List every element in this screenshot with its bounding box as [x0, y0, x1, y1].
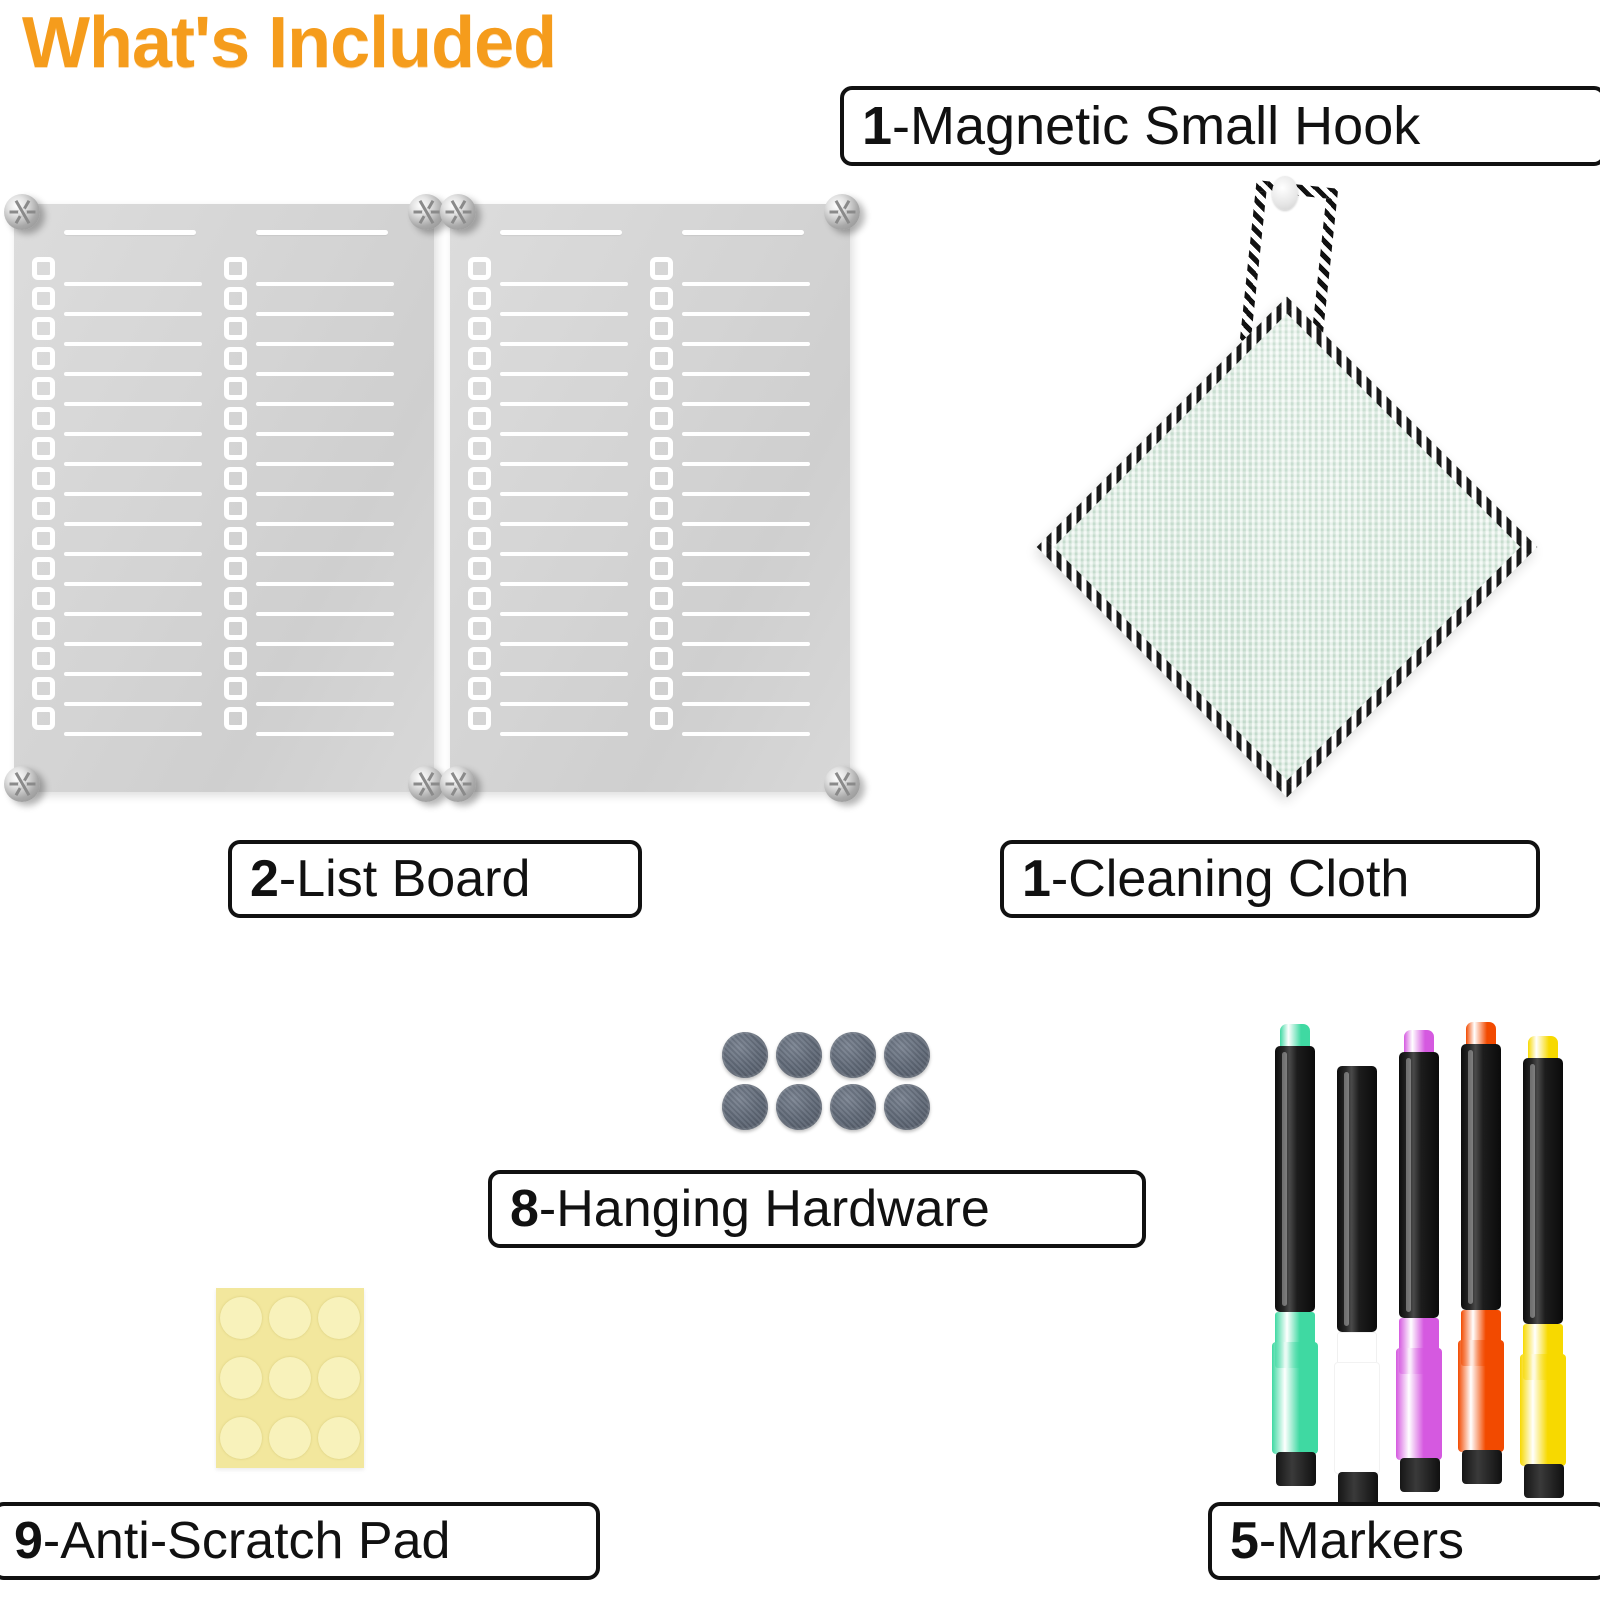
- checkbox-icon: [32, 617, 55, 640]
- board-header-line: [682, 230, 804, 235]
- board-screw-icon: [408, 766, 444, 802]
- marker-eraser: [1462, 1450, 1502, 1484]
- marker-eraser: [1524, 1464, 1564, 1498]
- checkbox-icon: [650, 587, 673, 610]
- hanging-hardware-group: [722, 1032, 928, 1132]
- checkbox-icon: [32, 587, 55, 610]
- board-list-row: [468, 316, 628, 346]
- board-list-row: [32, 286, 202, 316]
- board-list-row: [650, 466, 810, 496]
- board-column: [224, 256, 394, 736]
- checkbox-icon: [650, 557, 673, 580]
- board-write-line: [64, 732, 202, 736]
- checkbox-icon: [650, 437, 673, 460]
- magnet-disc: [830, 1084, 876, 1130]
- board-screw-icon: [4, 766, 40, 802]
- anti-scratch-pad-dot: [269, 1417, 311, 1459]
- board-list-row: [650, 286, 810, 316]
- board-column: [650, 256, 810, 736]
- caption-separator: -: [539, 1179, 556, 1239]
- board-list-row: [224, 706, 394, 736]
- checkbox-icon: [224, 557, 247, 580]
- board-list-row: [468, 616, 628, 646]
- caption-separator: -: [43, 1511, 60, 1571]
- board-list-row: [468, 586, 628, 616]
- checkbox-icon: [224, 347, 247, 370]
- caption-label: List Board: [296, 849, 530, 909]
- checkbox-icon: [468, 647, 491, 670]
- checkbox-icon: [224, 317, 247, 340]
- board-header-line: [500, 230, 622, 235]
- board-list-row: [32, 586, 202, 616]
- caption-anti-scratch-pad: 9 - Anti-Scratch Pad: [0, 1502, 600, 1580]
- magnet-disc: [884, 1032, 930, 1078]
- caption-list-board: 2 - List Board: [228, 840, 642, 918]
- board-list-row: [224, 256, 394, 286]
- marker-barrel: [1337, 1066, 1377, 1332]
- checkbox-icon: [650, 677, 673, 700]
- list-board-surface: [14, 204, 434, 792]
- checkbox-icon: [468, 677, 491, 700]
- checkbox-icon: [32, 467, 55, 490]
- marker-gloss: [1282, 1052, 1287, 1306]
- checkbox-icon: [468, 527, 491, 550]
- checkbox-icon: [650, 527, 673, 550]
- caption-count: 9: [14, 1511, 43, 1571]
- checkbox-icon: [650, 467, 673, 490]
- board-list-row: [224, 406, 394, 436]
- caption-count: 8: [510, 1179, 539, 1239]
- board-screw-icon: [440, 194, 476, 230]
- checkbox-icon: [32, 647, 55, 670]
- board-list-row: [650, 316, 810, 346]
- board-list-row: [224, 496, 394, 526]
- list-board-surface: [450, 204, 850, 792]
- board-list-row: [468, 286, 628, 316]
- anti-scratch-pad-dot: [318, 1417, 360, 1459]
- checkbox-icon: [468, 257, 491, 280]
- caption-label: Markers: [1276, 1511, 1464, 1571]
- checkbox-icon: [224, 437, 247, 460]
- marker-barrel: [1523, 1058, 1563, 1324]
- board-list-row: [32, 436, 202, 466]
- board-list-row: [32, 646, 202, 676]
- checkbox-icon: [650, 377, 673, 400]
- list-board-2: [450, 204, 850, 792]
- magnet-disc: [830, 1032, 876, 1078]
- checkbox-icon: [468, 317, 491, 340]
- board-list-row: [32, 256, 202, 286]
- caption-separator: -: [892, 95, 910, 157]
- marker-barrel: [1275, 1046, 1315, 1312]
- marker-grip-body: [1458, 1340, 1504, 1452]
- board-screw-icon: [824, 194, 860, 230]
- checkbox-icon: [32, 677, 55, 700]
- board-list-row: [32, 556, 202, 586]
- checkbox-icon: [224, 677, 247, 700]
- board-list-row: [32, 316, 202, 346]
- board-list-row: [468, 496, 628, 526]
- marker-gloss: [1406, 1058, 1411, 1312]
- checkbox-icon: [224, 527, 247, 550]
- caption-separator: -: [279, 849, 296, 909]
- checkbox-icon: [32, 377, 55, 400]
- board-list-row: [468, 466, 628, 496]
- checkbox-icon: [468, 377, 491, 400]
- board-column: [468, 256, 628, 736]
- checkbox-icon: [224, 287, 247, 310]
- checkbox-icon: [468, 557, 491, 580]
- board-list-row: [468, 706, 628, 736]
- anti-scratch-pad-dot: [318, 1357, 360, 1399]
- board-list-row: [650, 556, 810, 586]
- anti-scratch-pad-dots: [216, 1288, 364, 1468]
- board-list-row: [468, 256, 628, 286]
- anti-scratch-pad-dot: [269, 1357, 311, 1399]
- board-screw-icon: [408, 194, 444, 230]
- board-list-row: [32, 616, 202, 646]
- board-list-row: [224, 466, 394, 496]
- checkbox-icon: [224, 377, 247, 400]
- checkbox-icon: [32, 317, 55, 340]
- marker-pen: [1334, 1044, 1380, 1514]
- marker-grip-body: [1272, 1342, 1318, 1454]
- marker-grip-body: [1520, 1354, 1566, 1466]
- checkbox-icon: [224, 647, 247, 670]
- board-write-line: [682, 732, 810, 736]
- checkbox-icon: [32, 497, 55, 520]
- board-list-row: [468, 406, 628, 436]
- magnet-disc: [776, 1032, 822, 1078]
- caption-magnetic-small-hook: 1 - Magnetic Small Hook: [840, 86, 1600, 166]
- board-list-row: [650, 436, 810, 466]
- anti-scratch-pad-dot: [220, 1357, 262, 1399]
- checkbox-icon: [468, 497, 491, 520]
- marker-eraser: [1276, 1452, 1316, 1486]
- board-list-row: [224, 616, 394, 646]
- board-list-row: [224, 586, 394, 616]
- checkbox-icon: [224, 587, 247, 610]
- marker-eraser: [1338, 1472, 1378, 1506]
- list-board-1: [14, 204, 434, 792]
- board-list-row: [468, 526, 628, 556]
- board-list-row: [224, 346, 394, 376]
- checkbox-icon: [32, 287, 55, 310]
- board-screw-icon: [4, 194, 40, 230]
- board-list-row: [224, 526, 394, 556]
- board-list-row: [32, 526, 202, 556]
- infographic-canvas: What's Included 1 - Magnetic Small Hook …: [0, 0, 1600, 1600]
- board-list-row: [32, 406, 202, 436]
- board-header-line: [256, 230, 388, 235]
- checkbox-icon: [650, 317, 673, 340]
- board-list-row: [224, 556, 394, 586]
- caption-count: 1: [862, 95, 892, 157]
- board-list-row: [224, 646, 394, 676]
- board-screw-icon: [824, 766, 860, 802]
- checkbox-icon: [32, 407, 55, 430]
- marker-eraser: [1400, 1458, 1440, 1492]
- board-list-row: [650, 496, 810, 526]
- cloth-loop-tag: [1272, 176, 1298, 210]
- board-list-row: [650, 586, 810, 616]
- board-screw-icon: [440, 766, 476, 802]
- checkbox-icon: [224, 407, 247, 430]
- board-header-line: [64, 230, 196, 235]
- checkbox-icon: [650, 617, 673, 640]
- checkbox-icon: [224, 707, 247, 730]
- marker-grip-body: [1334, 1362, 1380, 1474]
- marker-pen: [1272, 1024, 1318, 1494]
- checkbox-icon: [32, 557, 55, 580]
- checkbox-icon: [32, 347, 55, 370]
- marker-barrel: [1461, 1044, 1501, 1310]
- marker-grip-body: [1396, 1348, 1442, 1460]
- marker-pen: [1458, 1022, 1504, 1492]
- checkbox-icon: [650, 707, 673, 730]
- board-list-row: [32, 466, 202, 496]
- checkbox-icon: [468, 407, 491, 430]
- caption-count: 2: [250, 849, 279, 909]
- board-list-row: [650, 646, 810, 676]
- marker-barrel: [1399, 1052, 1439, 1318]
- board-list-row: [32, 706, 202, 736]
- checkbox-icon: [32, 707, 55, 730]
- board-list-row: [650, 616, 810, 646]
- anti-scratch-pad-dot: [220, 1297, 262, 1339]
- magnet-disc: [776, 1084, 822, 1130]
- board-list-row: [468, 376, 628, 406]
- board-list-row: [650, 256, 810, 286]
- checkbox-icon: [32, 437, 55, 460]
- cloth-fabric: [1037, 297, 1538, 798]
- checkbox-icon: [224, 497, 247, 520]
- caption-separator: -: [1051, 849, 1068, 909]
- board-list-row: [32, 346, 202, 376]
- caption-cleaning-cloth: 1 - Cleaning Cloth: [1000, 840, 1540, 918]
- caption-hanging-hardware: 8 - Hanging Hardware: [488, 1170, 1146, 1248]
- board-list-row: [650, 346, 810, 376]
- checkbox-icon: [224, 617, 247, 640]
- checkbox-icon: [468, 467, 491, 490]
- marker-pen: [1520, 1036, 1566, 1506]
- board-list-row: [468, 556, 628, 586]
- board-list-row: [650, 406, 810, 436]
- caption-label: Anti-Scratch Pad: [60, 1511, 450, 1571]
- checkbox-icon: [468, 587, 491, 610]
- checkbox-icon: [650, 347, 673, 370]
- board-list-row: [224, 436, 394, 466]
- checkbox-icon: [468, 437, 491, 460]
- anti-scratch-pad-dot: [220, 1417, 262, 1459]
- checkbox-icon: [650, 407, 673, 430]
- marker-gloss: [1344, 1072, 1349, 1326]
- cleaning-cloth: [1000, 170, 1540, 830]
- board-list-row: [650, 706, 810, 736]
- checkbox-icon: [650, 287, 673, 310]
- caption-label: Magnetic Small Hook: [910, 95, 1420, 157]
- board-list-row: [224, 376, 394, 406]
- checkbox-icon: [224, 257, 247, 280]
- board-list-row: [650, 676, 810, 706]
- anti-scratch-pad-dot: [318, 1297, 360, 1339]
- caption-label: Cleaning Cloth: [1068, 849, 1409, 909]
- board-list-row: [468, 676, 628, 706]
- caption-count: 1: [1022, 849, 1051, 909]
- marker-pen: [1396, 1030, 1442, 1500]
- anti-scratch-pad-sheet: [216, 1288, 364, 1468]
- checkbox-icon: [468, 287, 491, 310]
- anti-scratch-pad-dot: [269, 1297, 311, 1339]
- checkbox-icon: [468, 347, 491, 370]
- board-list-row: [650, 526, 810, 556]
- caption-markers: 5 - Markers: [1208, 1502, 1600, 1580]
- board-list-row: [224, 316, 394, 346]
- checkbox-icon: [224, 467, 247, 490]
- board-write-line: [500, 732, 628, 736]
- checkbox-icon: [32, 527, 55, 550]
- board-list-row: [32, 496, 202, 526]
- board-list-row: [224, 676, 394, 706]
- checkbox-icon: [468, 707, 491, 730]
- board-write-line: [256, 732, 394, 736]
- marker-gloss: [1468, 1050, 1473, 1304]
- board-list-row: [650, 376, 810, 406]
- marker-gloss: [1530, 1064, 1535, 1318]
- checkbox-icon: [650, 257, 673, 280]
- magnet-disc: [722, 1032, 768, 1078]
- board-list-row: [32, 676, 202, 706]
- page-title: What's Included: [22, 2, 556, 84]
- checkbox-icon: [32, 257, 55, 280]
- caption-label: Hanging Hardware: [556, 1179, 990, 1239]
- magnet-disc: [884, 1084, 930, 1130]
- board-list-row: [32, 376, 202, 406]
- caption-separator: -: [1259, 1511, 1276, 1571]
- caption-count: 5: [1230, 1511, 1259, 1571]
- checkbox-icon: [468, 617, 491, 640]
- magnet-disc: [722, 1084, 768, 1130]
- markers-group: [1272, 1010, 1592, 1490]
- board-list-row: [468, 646, 628, 676]
- checkbox-icon: [650, 497, 673, 520]
- board-list-row: [468, 436, 628, 466]
- board-column: [32, 256, 202, 736]
- board-list-row: [224, 286, 394, 316]
- checkbox-icon: [650, 647, 673, 670]
- board-list-row: [468, 346, 628, 376]
